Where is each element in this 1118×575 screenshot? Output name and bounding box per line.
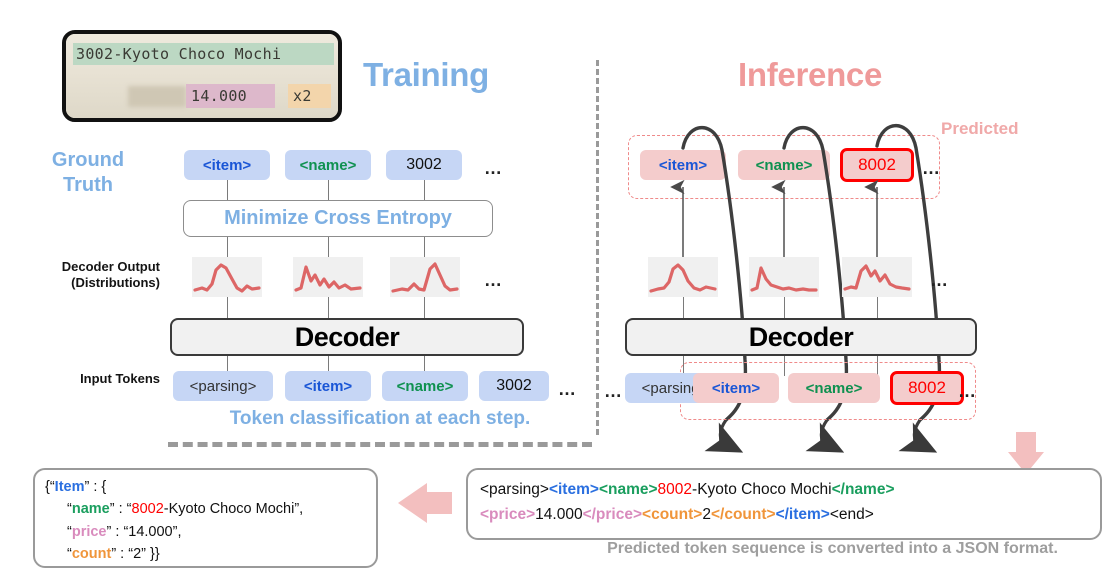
seq-count-close: </count> [711, 506, 776, 523]
seq-price-value: 14.000 [535, 506, 582, 523]
decoder-box-training: Decoder [170, 318, 524, 356]
seq-item-close: </item> [776, 506, 830, 523]
receipt-image: 3002-Kyoto Choco Mochi 14.000 x2 [62, 30, 342, 122]
feedback-hook-2 [821, 420, 827, 444]
input-token-id-inference-error: 8002 [890, 371, 964, 405]
gt-row-ellipsis: … [484, 158, 503, 179]
input-token-name-training: <name> [382, 371, 468, 401]
convert-to-json-arrow [398, 483, 452, 523]
seq-price-close: </price> [583, 506, 642, 523]
gt-token-id: 3002 [386, 150, 462, 180]
connector-inf-dist1-decoder [683, 297, 684, 318]
json-open-brace: {“ [45, 479, 55, 495]
connector-dist1-decoder [227, 297, 228, 318]
predicted-token-id-error-label: 8002 [858, 155, 896, 175]
input-token-id-inference-error-label: 8002 [908, 378, 946, 398]
json-line-count: “count” : “2” }} [45, 543, 366, 565]
json-line-price: “price” : “14.000”, [45, 521, 366, 543]
token-sequence-box: <parsing><item><name>8002-Kyoto Choco Mo… [466, 468, 1102, 540]
seq-item-open: <item> [549, 481, 599, 498]
json-name-key: name [72, 501, 110, 517]
input-token-name-training-label: <name> [397, 378, 454, 395]
inference-distribution-row-ellipsis: … [930, 270, 949, 291]
connector-dist3-decoder [424, 297, 425, 318]
feedback-hook-1 [720, 420, 726, 444]
seq-name-close: </name> [832, 481, 895, 498]
input-token-parsing-training-label: <parsing> [190, 378, 257, 395]
inference-distribution-thumbnail-2 [749, 257, 819, 297]
decoder-output-label: Decoder Output (Distributions) [10, 259, 160, 292]
distribution-thumbnail-3 [390, 257, 460, 297]
seq-price-open: <price> [480, 506, 535, 523]
connector-gt-id [424, 180, 425, 200]
seq-name-open: <name> [599, 481, 658, 498]
input-token-id-training: 3002 [479, 371, 549, 401]
token-sequence-line-2: <price>14.000</price><count>2</count></i… [480, 503, 1088, 528]
json-name-colon: ” : [110, 501, 127, 517]
connector-gt-item [227, 180, 228, 200]
input-token-id-training-label: 3002 [496, 377, 532, 395]
predicted-row-ellipsis: … [922, 158, 941, 179]
inference-distribution-thumbnail-1 [648, 257, 718, 297]
seq-end: <end> [830, 506, 874, 523]
inference-input-row-ellipsis: … [958, 381, 977, 402]
receipt-price-highlight: 14.000 [186, 84, 275, 108]
json-output-box: {“Item” : { “name” : “8002-Kyoto Choco M… [33, 468, 378, 568]
distribution-row-ellipsis: … [484, 270, 503, 291]
gt-token-name: <name> [285, 150, 371, 180]
decoder-output-label-line2: (Distributions) [10, 275, 160, 291]
seq-name-text: -Kyoto Choco Mochi [692, 481, 832, 498]
input-token-item-inference: <item> [693, 373, 779, 403]
token-sequence-line-1: <parsing><item><name>8002-Kyoto Choco Mo… [480, 478, 1088, 503]
input-row-ellipsis-training: … [558, 379, 577, 400]
receipt-smudge [128, 86, 186, 107]
seq-pred-id: 8002 [658, 481, 692, 498]
connector-mce-dist1 [227, 237, 228, 257]
json-item-key: Item [55, 479, 85, 495]
connector-mce-dist2 [328, 237, 329, 257]
predicted-token-name: <name> [738, 150, 830, 180]
training-caption: Token classification at each step. [160, 408, 600, 430]
inference-input-row-ellipsis-left: … [604, 381, 623, 402]
connector-inf-dist3-decoder [877, 297, 878, 318]
seq-count-value: 2 [702, 506, 711, 523]
json-line-1: {“Item” : { [45, 476, 366, 498]
json-price-colon: ” : [107, 524, 124, 540]
gt-token-id-label: 3002 [406, 156, 442, 174]
connector-gt-name [328, 180, 329, 200]
feedback-hook-3 [914, 420, 920, 444]
ground-truth-label-line1: Ground [15, 148, 161, 173]
gt-token-item-label: <item> [203, 157, 251, 174]
connector-mce-dist3 [424, 237, 425, 257]
receipt-count-highlight: x2 [288, 84, 331, 108]
receipt-name-highlight: 3002-Kyoto Choco Mochi [73, 43, 334, 65]
inference-title: Inference [738, 56, 882, 94]
input-token-item-training-label: <item> [304, 378, 352, 395]
json-item-rest: ” : { [85, 479, 107, 495]
json-price-value: “14.000”, [123, 524, 181, 540]
distribution-thumbnail-2 [293, 257, 363, 297]
distribution-thumbnail-1 [192, 257, 262, 297]
input-tokens-label: Input Tokens [10, 371, 160, 387]
input-token-name-inference: <name> [788, 373, 880, 403]
json-name-value-rest: -Kyoto Choco Mochi”, [164, 501, 303, 517]
connector-dist2-decoder [328, 297, 329, 318]
predicted-token-name-label: <name> [756, 157, 813, 174]
inference-caption: Predicted token sequence is converted in… [560, 540, 1105, 558]
predicted-token-item-label: <item> [659, 157, 707, 174]
inference-distribution-thumbnail-3 [842, 257, 912, 297]
ground-truth-label: Ground Truth [15, 148, 161, 198]
input-token-name-inference-label: <name> [806, 380, 863, 397]
predicted-label: Predicted [941, 119, 1018, 139]
predicted-token-id-error: 8002 [840, 148, 914, 182]
decoder-output-label-line1: Decoder Output [10, 259, 160, 275]
decoder-box-inference: Decoder [625, 318, 977, 356]
connector-inf-dist2-decoder [784, 297, 785, 318]
json-line-name: “name” : “8002-Kyoto Choco Mochi”, [45, 498, 366, 520]
input-token-parsing-training: <parsing> [173, 371, 273, 401]
input-token-item-training: <item> [285, 371, 371, 401]
horizontal-divider [168, 442, 592, 447]
json-count-value: “2” }} [128, 546, 159, 562]
json-count-colon: ” : [111, 546, 128, 562]
seq-count-open: <count> [642, 506, 702, 523]
json-price-key: price [72, 524, 107, 540]
gt-token-item: <item> [184, 150, 270, 180]
json-count-key: count [72, 546, 111, 562]
seq-parsing: <parsing> [480, 481, 549, 498]
training-title: Training [363, 56, 489, 94]
predicted-token-item: <item> [640, 150, 726, 180]
minimize-cross-entropy-box: Minimize Cross Entropy [183, 200, 493, 237]
vertical-divider [596, 60, 599, 435]
ground-truth-label-line2: Truth [15, 173, 161, 198]
json-name-pred-id: 8002 [132, 501, 164, 517]
gt-token-name-label: <name> [300, 157, 357, 174]
input-token-item-inference-label: <item> [712, 380, 760, 397]
